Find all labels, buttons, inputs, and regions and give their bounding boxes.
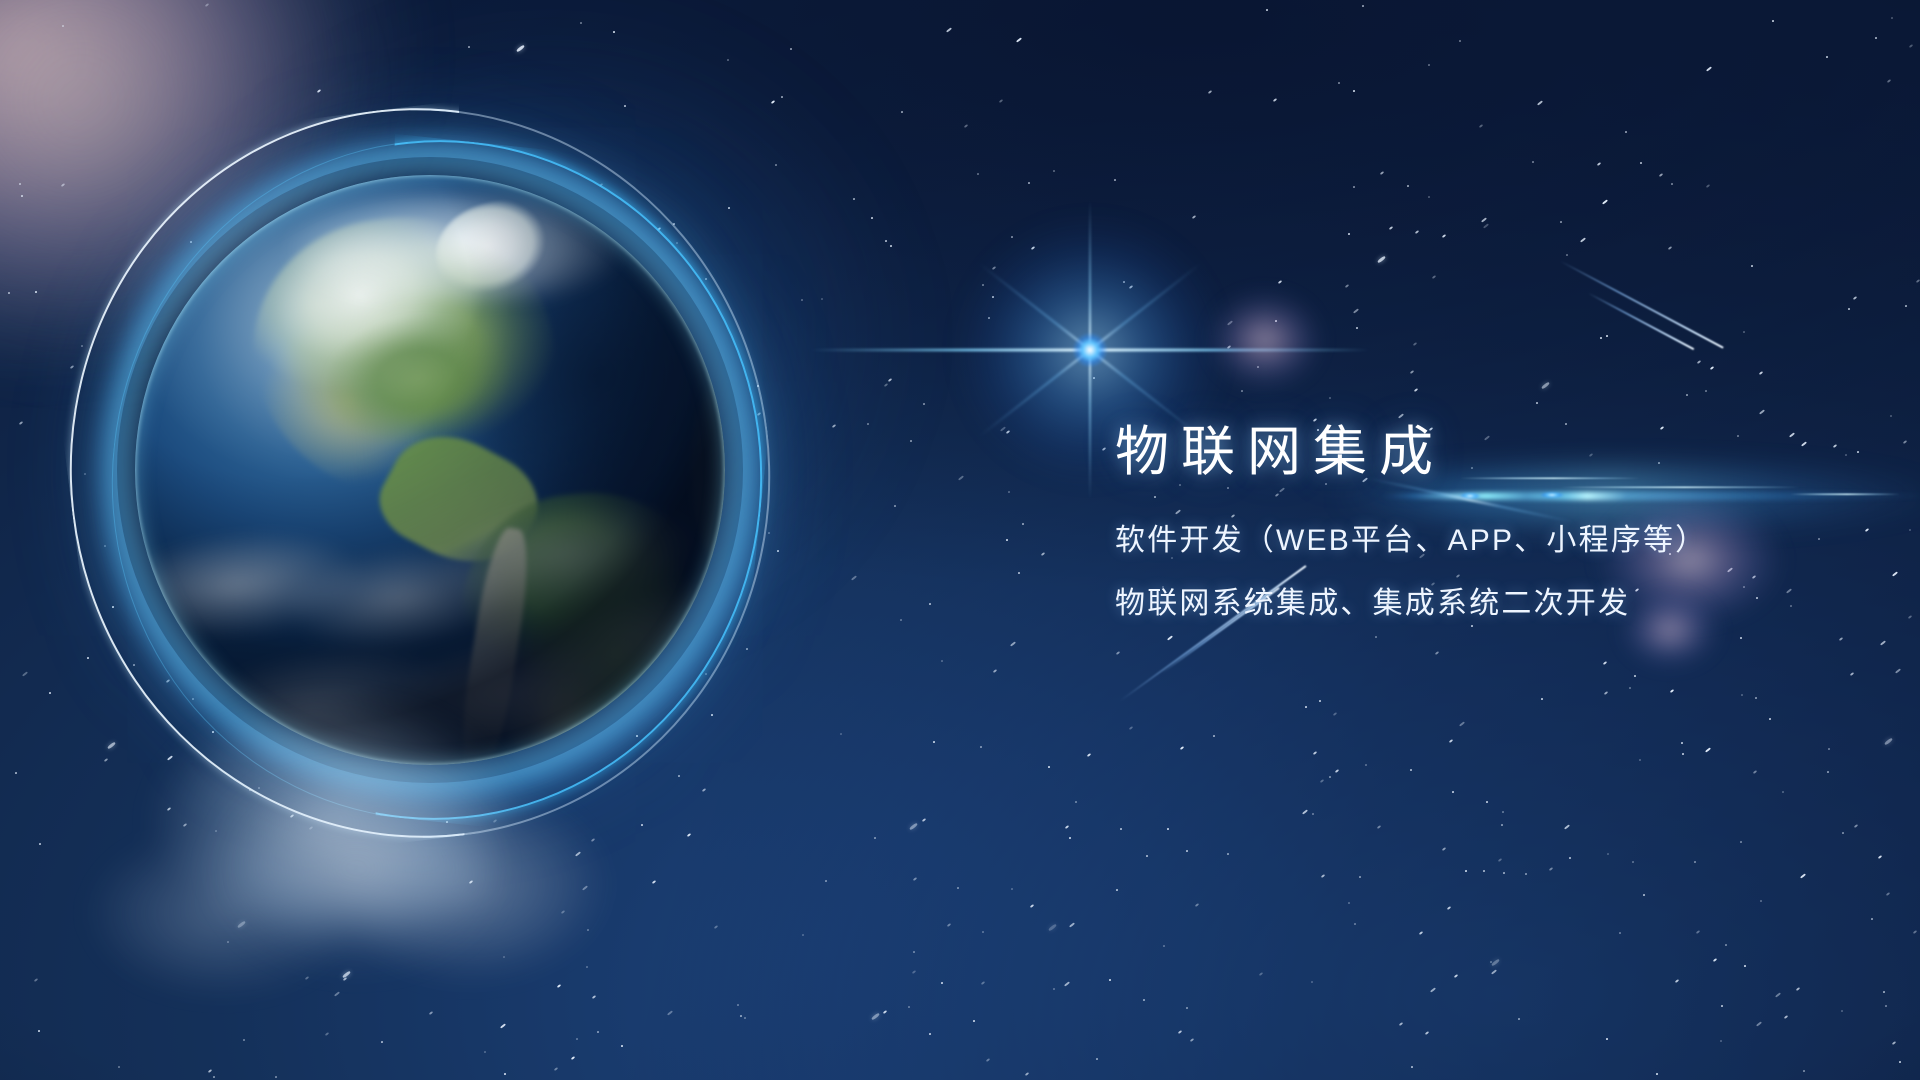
star	[570, 1056, 574, 1060]
page-title: 物联网集成	[1115, 420, 1875, 486]
star	[1754, 697, 1757, 700]
star	[1705, 747, 1711, 752]
star	[87, 657, 90, 660]
star	[1633, 674, 1636, 677]
star	[1115, 651, 1119, 655]
star	[1535, 402, 1538, 405]
star	[49, 692, 52, 695]
star	[1185, 1006, 1188, 1009]
star	[1908, 529, 1911, 532]
star	[1087, 753, 1091, 757]
star	[1907, 615, 1911, 619]
star	[1848, 308, 1851, 311]
star	[1600, 337, 1603, 340]
star	[15, 772, 18, 775]
star	[922, 818, 926, 822]
star	[61, 183, 65, 187]
star	[1332, 712, 1336, 716]
star	[1348, 232, 1351, 235]
star	[1565, 254, 1568, 257]
star	[1425, 1030, 1429, 1034]
star	[941, 660, 944, 663]
star	[985, 1058, 989, 1062]
star	[1517, 1018, 1520, 1021]
star	[1681, 752, 1684, 755]
star	[1895, 668, 1901, 673]
star	[1006, 538, 1009, 541]
star	[1681, 742, 1684, 745]
star	[1739, 637, 1742, 640]
star	[274, 1075, 277, 1078]
star	[1427, 64, 1430, 67]
star	[503, 1072, 506, 1075]
star	[1016, 37, 1022, 42]
star	[204, 3, 208, 7]
star	[871, 1013, 880, 1021]
star	[1883, 990, 1886, 993]
star	[1178, 1030, 1182, 1034]
star	[1541, 698, 1544, 701]
star	[1886, 79, 1890, 83]
star	[1892, 571, 1898, 576]
star	[1640, 161, 1643, 164]
star	[1501, 823, 1504, 826]
primary-lens-flare-core	[1068, 328, 1112, 372]
star	[1407, 184, 1410, 187]
star	[899, 618, 902, 621]
star	[789, 47, 792, 50]
star	[1625, 131, 1628, 134]
star	[118, 1065, 121, 1068]
star	[851, 575, 857, 580]
star	[912, 970, 916, 974]
star	[739, 1014, 742, 1017]
star	[1899, 1060, 1902, 1063]
star	[1854, 824, 1858, 828]
star	[61, 25, 64, 28]
hero-banner: 物联网集成 软件开发（WEB平台、APP、小程序等） 物联网系统集成、集成系统二…	[0, 0, 1920, 1080]
star	[972, 1019, 975, 1022]
star	[1916, 279, 1920, 283]
star	[1047, 765, 1050, 768]
star	[1656, 1073, 1659, 1076]
star	[208, 1069, 212, 1073]
star	[1880, 640, 1886, 645]
star	[1827, 771, 1830, 774]
star	[910, 439, 913, 442]
star	[992, 669, 996, 673]
star	[743, 1017, 746, 1020]
star	[958, 476, 964, 481]
star	[1352, 89, 1355, 92]
star	[1744, 965, 1747, 968]
star	[613, 31, 616, 34]
star	[1479, 124, 1483, 128]
star	[767, 532, 770, 535]
star	[1362, 5, 1365, 8]
star	[1491, 969, 1497, 974]
star	[1065, 824, 1069, 828]
star	[1442, 847, 1446, 851]
star	[1027, 181, 1030, 184]
star	[887, 378, 891, 382]
star	[824, 879, 827, 882]
star	[1884, 738, 1893, 746]
star	[907, 1005, 910, 1008]
star	[1109, 978, 1112, 981]
star	[1413, 342, 1417, 346]
star	[901, 111, 904, 114]
star	[1753, 770, 1757, 774]
star	[1903, 440, 1907, 444]
star	[579, 21, 582, 24]
star	[1606, 1038, 1609, 1041]
star	[1710, 366, 1714, 370]
star	[1442, 234, 1446, 238]
subtitle-line-2: 物联网系统集成、集成系统二次开发	[1115, 575, 1875, 633]
pink-flare-upper	[1195, 280, 1335, 400]
star	[1356, 327, 1359, 330]
star	[1446, 906, 1450, 910]
star	[554, 1067, 558, 1071]
star	[1377, 256, 1386, 264]
star	[932, 740, 935, 743]
star	[1670, 689, 1674, 693]
star	[1374, 635, 1377, 638]
star	[516, 45, 525, 53]
star	[780, 95, 783, 98]
star	[1162, 945, 1165, 948]
star	[1358, 876, 1361, 879]
star	[39, 842, 42, 845]
star	[1180, 746, 1184, 750]
star	[1120, 827, 1123, 830]
star	[1459, 40, 1462, 43]
star	[1483, 223, 1489, 228]
star	[1413, 388, 1417, 392]
star	[1064, 981, 1070, 986]
star	[1743, 330, 1746, 333]
star	[870, 216, 873, 219]
star	[1643, 894, 1646, 897]
star	[1537, 101, 1543, 106]
star	[1541, 381, 1550, 389]
star	[979, 745, 982, 748]
star	[946, 923, 950, 927]
star	[946, 27, 952, 32]
star	[1129, 726, 1133, 730]
star	[963, 124, 967, 128]
star	[1720, 1039, 1723, 1042]
star	[1908, 44, 1912, 48]
star	[1398, 1022, 1402, 1026]
star	[1452, 791, 1455, 794]
star	[1338, 82, 1341, 85]
star	[1075, 800, 1078, 803]
star	[1389, 226, 1393, 230]
star	[1597, 162, 1601, 166]
star	[1311, 981, 1314, 984]
subtitle-line-1: 软件开发（WEB平台、APP、小程序等）	[1115, 512, 1875, 570]
star	[1826, 55, 1829, 58]
star	[1025, 1072, 1029, 1076]
star	[1464, 869, 1467, 872]
star	[1485, 801, 1488, 804]
star	[1706, 184, 1710, 188]
star	[1605, 335, 1608, 338]
star	[1354, 923, 1357, 926]
star	[1167, 828, 1170, 831]
star	[1329, 775, 1332, 778]
copy-block: 物联网集成 软件开发（WEB平台、APP、小程序等） 物联网系统集成、集成系统二…	[1115, 420, 1875, 633]
star	[1302, 810, 1308, 815]
star	[1410, 370, 1414, 374]
star	[1531, 160, 1534, 163]
star	[1569, 857, 1572, 860]
star	[1482, 869, 1485, 872]
star	[1068, 837, 1071, 840]
star	[1312, 751, 1316, 755]
star	[1192, 215, 1196, 219]
star	[1706, 66, 1712, 71]
star	[1890, 415, 1893, 418]
star	[1905, 304, 1908, 307]
star	[212, 1075, 215, 1078]
star	[1190, 1038, 1194, 1042]
star	[1410, 1066, 1413, 1069]
star	[69, 365, 73, 369]
star	[1398, 414, 1404, 419]
star	[1802, 1070, 1805, 1073]
star	[1053, 170, 1056, 173]
star	[1756, 1021, 1762, 1026]
star	[923, 403, 926, 406]
star	[1771, 20, 1774, 23]
star	[980, 981, 984, 985]
star	[745, 648, 748, 651]
star	[1498, 858, 1502, 862]
star	[1639, 758, 1642, 761]
star	[1095, 1058, 1098, 1061]
star	[1030, 904, 1034, 908]
star	[1379, 171, 1383, 175]
star	[956, 886, 959, 889]
star	[1321, 874, 1325, 878]
star	[1226, 853, 1229, 856]
star	[1768, 717, 1771, 720]
star	[1022, 523, 1025, 526]
star	[940, 982, 943, 985]
star	[1454, 974, 1458, 978]
star	[1549, 867, 1553, 871]
star	[1892, 1041, 1896, 1045]
star	[800, 299, 803, 302]
cloud-mist-below-globe-core	[150, 760, 580, 1030]
star	[1448, 739, 1452, 743]
star	[1674, 978, 1678, 982]
star	[894, 504, 897, 507]
star	[1827, 748, 1830, 751]
star	[623, 105, 626, 108]
star	[929, 602, 932, 605]
star	[1632, 860, 1635, 863]
star	[1185, 849, 1188, 852]
star	[1560, 220, 1563, 223]
star	[1659, 172, 1663, 176]
star	[1414, 230, 1418, 234]
star	[1334, 769, 1338, 773]
star	[1721, 1004, 1724, 1007]
star	[801, 933, 804, 936]
star	[1740, 840, 1743, 843]
star	[1750, 264, 1753, 267]
star	[1376, 825, 1380, 829]
star	[80, 345, 83, 348]
star	[1069, 922, 1075, 927]
star	[977, 172, 980, 175]
star	[736, 1003, 739, 1006]
star	[1602, 200, 1608, 205]
star	[1760, 900, 1763, 903]
star	[1694, 860, 1697, 863]
star	[1167, 635, 1173, 640]
star	[776, 550, 779, 553]
star	[1194, 903, 1198, 907]
star	[1146, 855, 1149, 858]
star	[999, 99, 1003, 103]
star	[912, 877, 916, 881]
star	[771, 100, 775, 104]
star	[19, 182, 22, 185]
star	[1800, 873, 1806, 878]
star	[1430, 987, 1436, 992]
star	[929, 1032, 932, 1035]
star	[1685, 394, 1688, 397]
star	[1671, 182, 1674, 185]
star	[1010, 641, 1016, 646]
star	[820, 298, 823, 301]
star	[866, 422, 869, 425]
star	[317, 89, 321, 93]
star	[1427, 195, 1430, 198]
star	[1841, 832, 1844, 835]
star	[1212, 734, 1215, 737]
star	[1628, 686, 1631, 689]
star	[1668, 246, 1672, 250]
star	[839, 732, 842, 735]
star	[1459, 721, 1465, 726]
star	[34, 290, 37, 293]
star	[1048, 923, 1057, 931]
star	[22, 671, 28, 676]
star	[1874, 37, 1877, 40]
star	[1328, 397, 1331, 400]
star	[1041, 552, 1045, 556]
star	[1713, 958, 1717, 962]
star	[873, 836, 876, 839]
star	[1580, 238, 1586, 243]
star	[775, 164, 778, 167]
star	[1365, 764, 1368, 767]
star	[1885, 1004, 1888, 1007]
star	[1696, 360, 1700, 364]
star	[884, 240, 887, 243]
star	[1913, 930, 1917, 934]
star	[1603, 661, 1607, 665]
star	[19, 421, 23, 425]
star	[1871, 918, 1874, 921]
star	[1113, 179, 1116, 182]
star	[467, 46, 470, 49]
star	[1695, 930, 1699, 934]
star	[1618, 932, 1621, 935]
star	[1491, 959, 1500, 967]
subtitle-block: 软件开发（WEB平台、APP、小程序等） 物联网系统集成、集成系统二次开发	[1115, 512, 1875, 633]
star	[1840, 1009, 1843, 1012]
star	[913, 950, 916, 953]
star	[728, 207, 731, 210]
star	[1348, 902, 1351, 905]
star	[1725, 944, 1728, 947]
star	[1115, 889, 1118, 892]
star	[1796, 987, 1800, 991]
star	[1525, 872, 1528, 875]
star	[21, 194, 24, 197]
star	[34, 978, 38, 982]
star	[1502, 811, 1505, 814]
star	[1312, 812, 1315, 815]
star	[1759, 409, 1765, 414]
star	[1320, 778, 1324, 782]
star	[1259, 972, 1263, 976]
star	[37, 1029, 40, 1032]
star	[1018, 572, 1021, 575]
star	[726, 59, 729, 62]
star	[1319, 699, 1322, 702]
star	[1849, 671, 1853, 675]
star	[1784, 1015, 1788, 1019]
star	[1781, 791, 1784, 794]
star	[852, 197, 855, 200]
star	[1607, 853, 1610, 856]
star	[1853, 295, 1857, 299]
star	[890, 245, 893, 248]
star	[701, 788, 705, 792]
star	[1775, 992, 1781, 997]
star	[1410, 769, 1413, 772]
star	[832, 424, 836, 428]
star	[982, 930, 985, 933]
star	[1434, 651, 1438, 655]
star	[1353, 186, 1356, 189]
star	[1273, 98, 1277, 102]
star	[883, 1010, 887, 1014]
star	[1010, 888, 1013, 891]
star	[713, 925, 717, 929]
star	[1345, 283, 1349, 287]
star	[1305, 706, 1308, 709]
star	[1142, 998, 1145, 1001]
star	[1432, 275, 1436, 279]
star	[1877, 855, 1881, 859]
star	[1052, 987, 1055, 990]
star	[1266, 9, 1269, 12]
star	[1503, 871, 1506, 874]
star	[1418, 931, 1422, 935]
star	[1353, 308, 1359, 313]
star	[8, 292, 11, 295]
star	[884, 383, 888, 387]
